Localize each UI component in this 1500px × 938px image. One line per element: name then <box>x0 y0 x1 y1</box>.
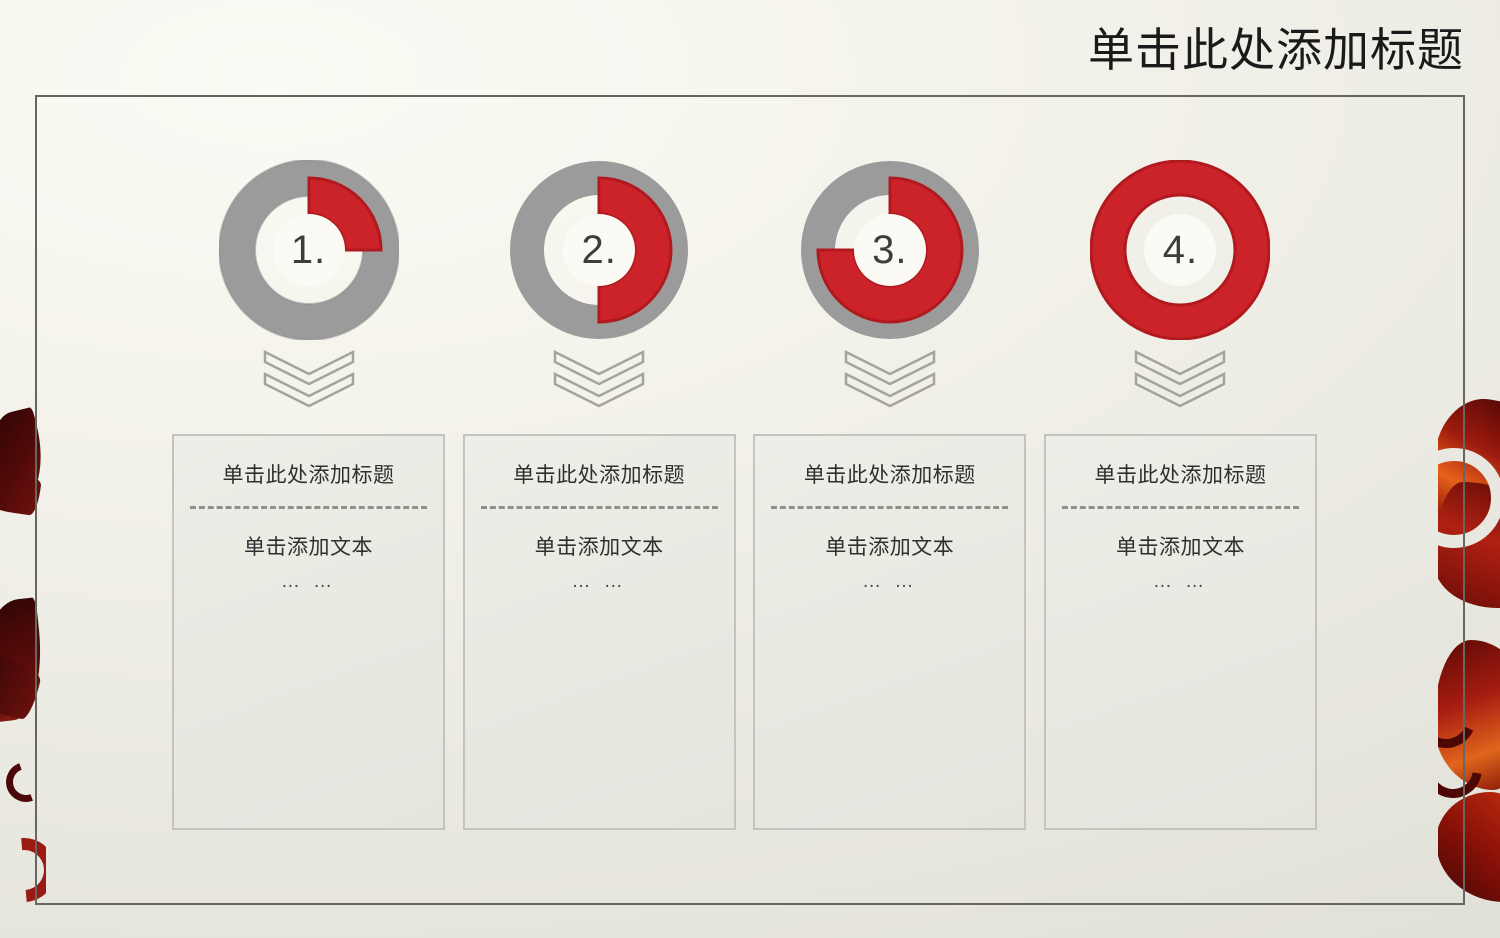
ornament-leaf-icon <box>0 464 43 516</box>
column-4: 4. 单击此处添加标题 单击添加文本 … … <box>1044 160 1317 830</box>
ornament-curl-icon <box>0 825 46 915</box>
donut-3-number: 3. <box>800 160 980 340</box>
ornament-spiral-icon <box>1438 729 1493 810</box>
donut-chart-2[interactable]: 2. <box>509 160 689 340</box>
card-2-ellipsis: … … <box>479 571 720 593</box>
card-4-title[interactable]: 单击此处添加标题 <box>1060 462 1301 490</box>
ornament-flame-icon <box>1438 640 1500 790</box>
card-4-divider <box>1062 506 1299 509</box>
card-2-divider <box>481 506 718 509</box>
text-card-3[interactable]: 单击此处添加标题 单击添加文本 … … <box>753 434 1026 830</box>
column-1: 1. 单击此处添加标题 单击添加文本 … … <box>172 160 445 830</box>
donut-4-number: 4. <box>1090 160 1270 340</box>
card-3-title[interactable]: 单击此处添加标题 <box>769 462 1010 490</box>
card-1-body[interactable]: 单击添加文本 <box>188 533 429 563</box>
text-card-4[interactable]: 单击此处添加标题 单击添加文本 … … <box>1044 434 1317 830</box>
chevron-down-icon <box>1130 348 1230 410</box>
card-1-title[interactable]: 单击此处添加标题 <box>188 462 429 490</box>
text-card-2[interactable]: 单击此处添加标题 单击添加文本 … … <box>463 434 736 830</box>
ornament-spiral-icon <box>1438 680 1484 757</box>
donut-2-number: 2. <box>509 160 689 340</box>
page-title[interactable]: 单击此处添加标题 <box>1088 22 1464 78</box>
ornament-curl-icon <box>0 755 46 808</box>
left-floral-ornament <box>0 390 46 938</box>
card-3-body[interactable]: 单击添加文本 <box>769 533 1010 563</box>
columns-container: 1. 单击此处添加标题 单击添加文本 … … 2. <box>172 160 1317 830</box>
card-4-body[interactable]: 单击添加文本 <box>1060 533 1301 563</box>
card-1-ellipsis: … … <box>188 571 429 593</box>
donut-1-number: 1. <box>219 160 399 340</box>
chevron-down-icon <box>840 348 940 410</box>
card-3-divider <box>771 506 1008 509</box>
card-2-body[interactable]: 单击添加文本 <box>479 533 720 563</box>
ornament-flame-icon <box>1438 792 1500 902</box>
ornament-flame-icon <box>1438 392 1500 555</box>
card-1-divider <box>190 506 427 509</box>
card-4-ellipsis: … … <box>1060 571 1301 593</box>
ornament-ring-icon <box>1438 448 1500 548</box>
donut-chart-4[interactable]: 4. <box>1090 160 1270 340</box>
ornament-leaf-icon <box>0 597 46 722</box>
column-3: 3. 单击此处添加标题 单击添加文本 … … <box>753 160 1026 830</box>
chevron-down-icon <box>549 348 649 410</box>
donut-chart-1[interactable]: 1. <box>219 160 399 340</box>
chevron-down-icon <box>259 348 359 410</box>
card-2-title[interactable]: 单击此处添加标题 <box>479 462 720 490</box>
right-swirl-ornament <box>1438 390 1500 938</box>
column-2: 2. 单击此处添加标题 单击添加文本 … … <box>463 160 736 830</box>
slide-canvas: 单击此处添加标题 1. 单击此处添加标题 <box>0 0 1500 938</box>
ornament-leaf-icon <box>0 651 44 721</box>
donut-chart-3[interactable]: 3. <box>800 160 980 340</box>
ornament-leaf-icon <box>0 407 46 509</box>
card-3-ellipsis: … … <box>769 571 1010 593</box>
text-card-1[interactable]: 单击此处添加标题 单击添加文本 … … <box>172 434 445 830</box>
ornament-flame-icon <box>1438 482 1500 608</box>
